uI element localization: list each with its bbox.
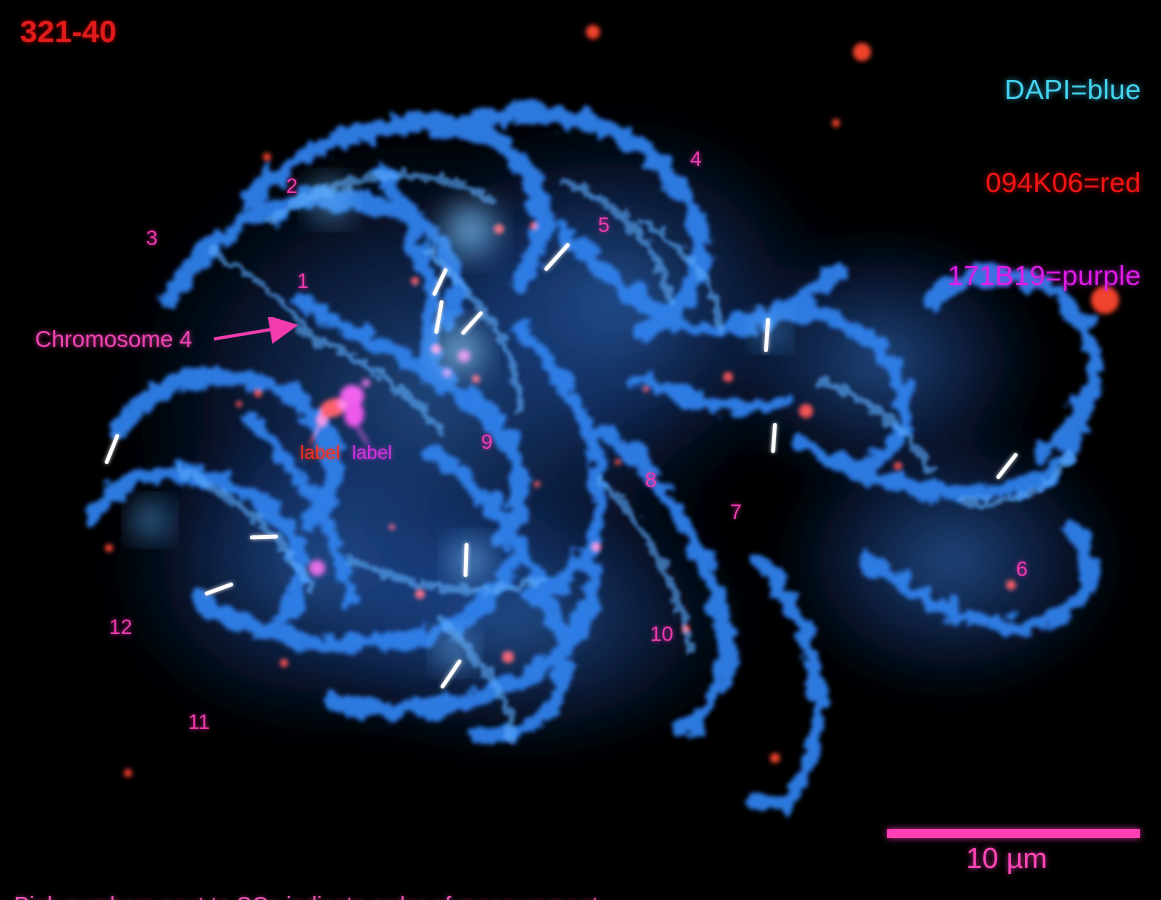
sc-number-1: 1 — [297, 270, 309, 294]
micrograph-canvas: 321-40 DAPI=blue 094K06=red 171B19=purpl… — [0, 0, 1161, 900]
scale-bar-label: 10 µm — [966, 843, 1047, 876]
sc-number-10: 10 — [650, 623, 673, 647]
legend-item-094k06: 094K06=red — [948, 167, 1141, 198]
sc-number-2: 2 — [286, 175, 298, 199]
sc-number-6: 6 — [1016, 558, 1028, 582]
measurement-tick — [204, 582, 234, 596]
sc-number-7: 7 — [730, 501, 742, 525]
legend-item-171b19: 171B19=purple — [948, 260, 1141, 291]
sc-number-9: 9 — [481, 431, 493, 455]
scale-bar-line — [887, 829, 1140, 838]
caption-line-1: Pink numbers next to SCs indicate order … — [14, 890, 605, 900]
measurement-tick — [432, 268, 448, 297]
measurement-tick — [434, 300, 444, 334]
measurement-tick — [463, 543, 468, 577]
measurement-tick — [250, 535, 278, 540]
measurement-tick — [996, 452, 1019, 480]
chromosome-4-arrow-icon — [212, 317, 308, 351]
sc-number-11: 11 — [188, 711, 210, 735]
measurement-tick — [543, 242, 570, 271]
sc-number-8: 8 — [645, 469, 657, 493]
legend-item-dapi: DAPI=blue — [948, 74, 1141, 105]
sc-number-12: 12 — [109, 616, 132, 640]
sc-number-3: 3 — [146, 227, 158, 251]
measurement-tick — [440, 659, 462, 689]
measurement-tick — [460, 311, 483, 336]
channel-legend: DAPI=blue 094K06=red 171B19=purple — [948, 12, 1141, 353]
probe-label-094k06: label — [300, 443, 340, 465]
specimen-id-label: 321-40 — [20, 14, 117, 50]
probe-label-171b19: label — [352, 443, 392, 465]
measurement-tick — [104, 433, 120, 464]
measurement-tick — [771, 423, 777, 453]
chromosome-4-callout-label: Chromosome 4 — [35, 326, 192, 353]
measurement-tick — [764, 318, 770, 352]
sc-number-4: 4 — [690, 148, 702, 172]
figure-caption: Pink numbers next to SCs indicate order … — [14, 828, 605, 900]
sc-number-5: 5 — [598, 214, 610, 238]
